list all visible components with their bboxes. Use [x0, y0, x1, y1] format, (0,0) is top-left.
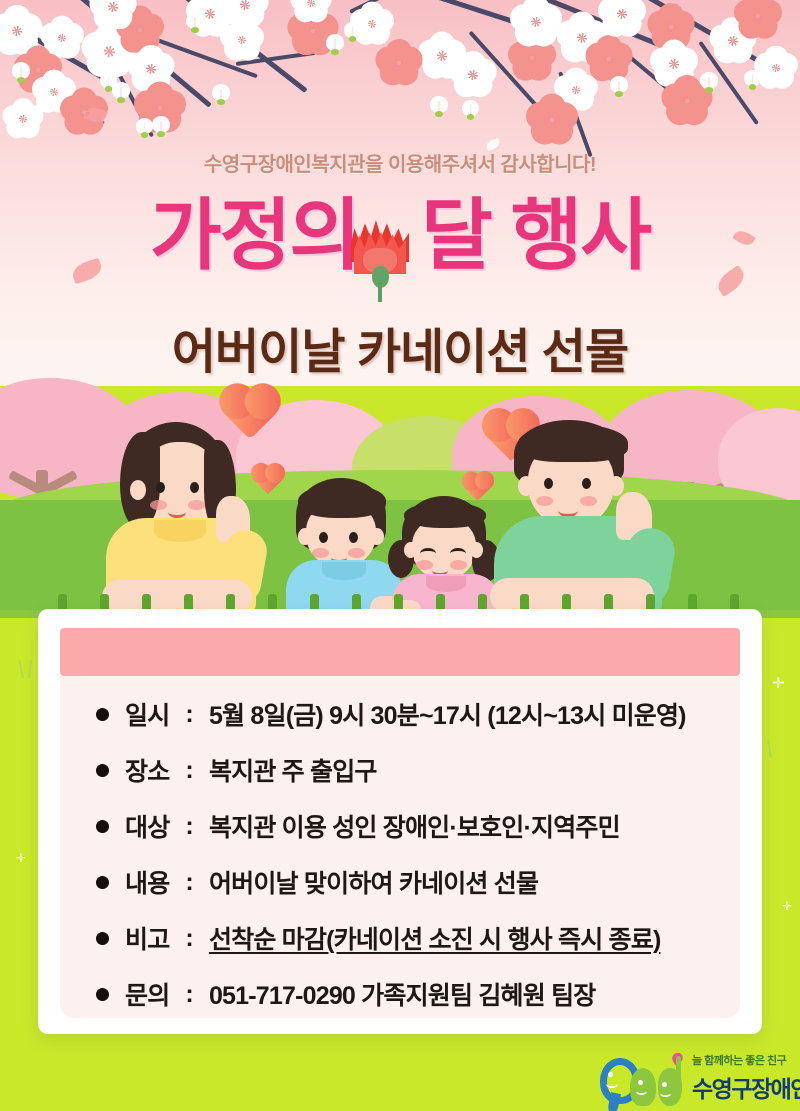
list-item-separator: : — [185, 868, 193, 897]
bullet-icon — [96, 932, 109, 945]
bullet-icon — [96, 820, 109, 833]
cherry-blossom-branch-decoration — [0, 0, 800, 165]
list-item-separator: : — [185, 812, 193, 841]
bullet-icon — [96, 988, 109, 1001]
bullet-icon — [96, 876, 109, 889]
list-item: 장소 : 복지관 주 출입구 — [96, 752, 377, 788]
list-item-separator: : — [185, 756, 193, 785]
greeting-text: 수영구장애인복지관을 이용해주셔서 감사합니다! — [0, 148, 800, 177]
list-item-value: 어버이날 맞이하여 카네이션 선물 — [209, 864, 538, 900]
page-subtitle: 어버이날 카네이션 선물 — [0, 312, 800, 382]
list-item: 내용 : 어버이날 맞이하여 카네이션 선물 — [96, 864, 538, 900]
poster-root: 수영구장애인복지관을 이용해주셔서 감사합니다! 가정의달 행사 어버이날 카네… — [0, 0, 800, 1111]
logo-tagline: 늘 함께하는 좋은 친구 — [692, 1052, 786, 1068]
list-item: 일시 : 5월 8일(금) 9시 30분~17시 (12시~13시 미운영) — [96, 696, 686, 732]
list-item-separator: : — [185, 980, 193, 1009]
list-item-value: 복지관 이용 성인 장애인·보호인·지역주민 — [209, 808, 620, 844]
details-list-panel: 일시 : 5월 8일(금) 9시 30분~17시 (12시~13시 미운영) 장… — [60, 676, 740, 1018]
list-item-label: 일시 — [125, 696, 169, 732]
carnation-icon — [349, 216, 411, 302]
card-banner-bar — [60, 628, 740, 676]
list-item-value: 5월 8일(금) 9시 30분~17시 (12시~13시 미운영) — [209, 696, 686, 732]
sparkle-icon: ✛ — [16, 852, 26, 864]
list-item-label: 문의 — [125, 976, 169, 1012]
organization-logo: 늘 함께하는 좋은 친구 수영구장애인복지관 — [600, 1052, 790, 1108]
character-father — [488, 420, 718, 614]
title-left-text: 가정의 — [150, 191, 359, 279]
list-item-label: 내용 — [125, 864, 169, 900]
logo-organization-name: 수영구장애인복지관 — [692, 1070, 800, 1104]
list-item: 문의 : 051-717-0290 가족지원팀 김혜원 팀장 — [96, 976, 595, 1012]
list-item-separator: : — [185, 924, 193, 953]
sparkle-icon: ✛ — [772, 676, 785, 691]
and-character-logo-icon — [600, 1054, 686, 1106]
title-right-text: 달 행사 — [421, 191, 650, 279]
list-item-value: 선착순 마감(카네이션 소진 시 행사 즉시 종료) — [209, 920, 661, 956]
bullet-icon — [96, 764, 109, 777]
list-item-label: 장소 — [125, 752, 169, 788]
sparkle-icon: ✛ — [782, 900, 792, 912]
list-item-value: 복지관 주 출입구 — [209, 752, 377, 788]
bullet-icon — [96, 708, 109, 721]
list-item-label: 대상 — [125, 808, 169, 844]
list-item: 비고 : 선착순 마감(카네이션 소진 시 행사 즉시 종료) — [96, 920, 660, 956]
list-item-separator: : — [185, 700, 193, 729]
list-item: 대상 : 복지관 이용 성인 장애인·보호인·지역주민 — [96, 808, 620, 844]
list-item-label: 비고 — [125, 920, 169, 956]
list-item-value: 051-717-0290 가족지원팀 김혜원 팀장 — [209, 976, 596, 1012]
